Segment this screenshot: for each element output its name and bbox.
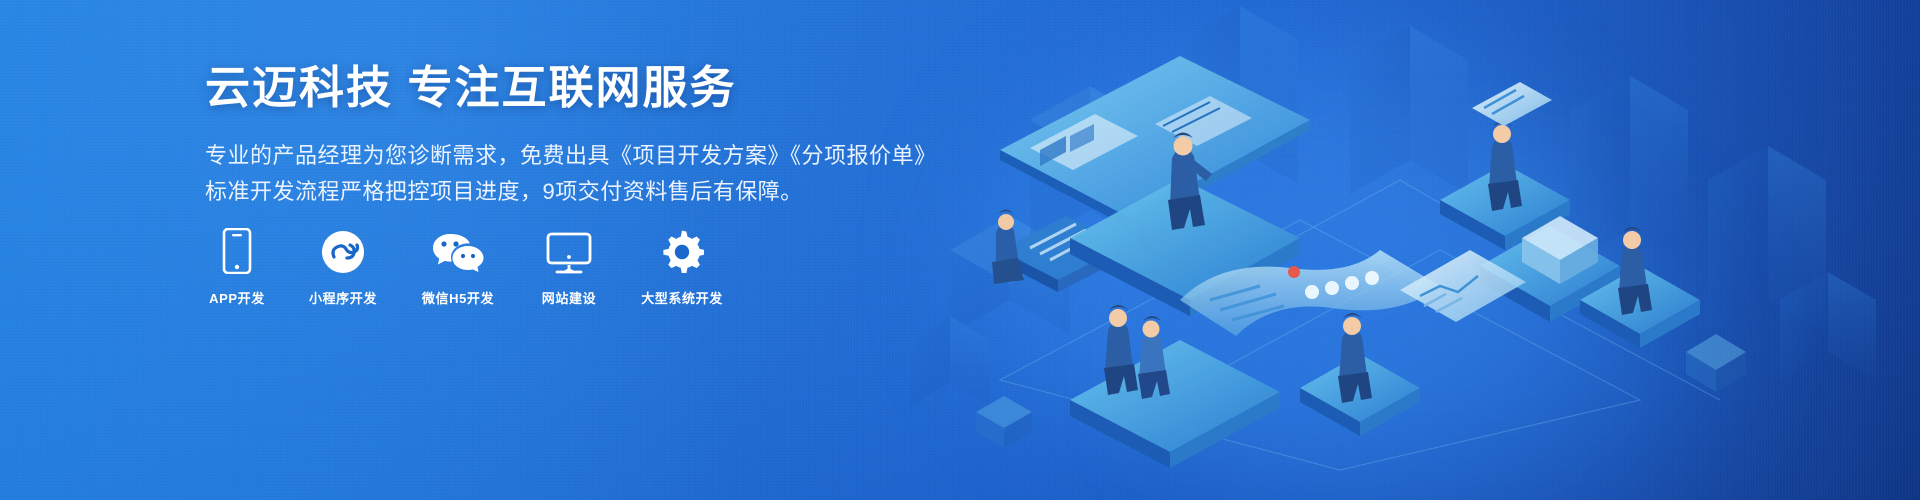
platform-bottom-left — [1070, 305, 1280, 468]
hero-banner: 云迈科技 专注互联网服务 专业的产品经理为您诊断需求，免费出具《项目开发方案》《… — [0, 0, 1920, 500]
service-label: 小程序开发 — [309, 288, 377, 307]
isometric-illustration — [880, 0, 1920, 500]
service-label: APP开发 — [209, 288, 265, 307]
subtitle-line-1: 专业的产品经理为您诊断需求，免费出具《项目开发方案》《分项报价单》 — [205, 138, 965, 174]
service-item-app[interactable]: APP开发 — [200, 228, 274, 307]
gear-icon — [660, 228, 704, 274]
service-list: APP开发 小程序开发 — [200, 228, 730, 307]
service-label: 微信H5开发 — [422, 288, 494, 307]
service-item-miniprogram[interactable]: 小程序开发 — [300, 228, 386, 307]
service-label: 网站建设 — [542, 288, 596, 307]
page-title: 云迈科技 专注互联网服务 — [205, 62, 965, 114]
service-item-large-system[interactable]: 大型系统开发 — [634, 228, 730, 307]
wechat-icon — [432, 228, 484, 274]
smartphone-icon — [222, 228, 252, 274]
monitor-icon — [546, 228, 592, 274]
banner-subtitle: 专业的产品经理为您诊断需求，免费出具《项目开发方案》《分项报价单》 标准开发流程… — [205, 138, 965, 211]
figure-pair — [1104, 305, 1170, 399]
mini-program-icon — [321, 228, 365, 274]
subtitle-line-2: 标准开发流程严格把控项目进度，9项交付资料售后有保障。 — [205, 174, 965, 210]
standing-figure-upper — [1488, 121, 1522, 211]
platform-bottom-right — [1300, 313, 1420, 436]
service-item-website[interactable]: 网站建设 — [530, 228, 608, 307]
banner-copy: 云迈科技 专注互联网服务 专业的产品经理为您诊断需求，免费出具《项目开发方案》《… — [205, 62, 965, 210]
service-item-wechat-h5[interactable]: 微信H5开发 — [412, 228, 504, 307]
service-label: 大型系统开发 — [641, 288, 723, 307]
